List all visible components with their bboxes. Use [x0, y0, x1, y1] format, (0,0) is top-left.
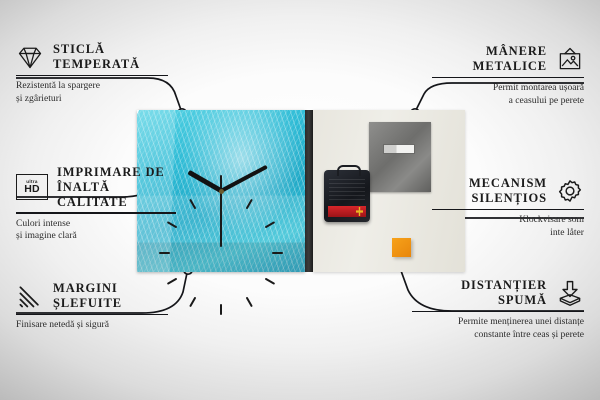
- picture-frame-icon: [556, 45, 584, 73]
- divider: [432, 77, 584, 79]
- feature-title: IMPRIMARE DE ÎNALTĂ CALITATE: [57, 165, 176, 209]
- clock-second-hand: [220, 191, 222, 247]
- feature-subtitle: Permit montarea ușoară a ceasului pe per…: [432, 82, 584, 107]
- feature-subtitle: Culori intense și imagine clară: [16, 218, 176, 243]
- clock-minute-hand: [220, 165, 268, 193]
- product-photo: [137, 110, 465, 272]
- mechanism-grill: [329, 178, 365, 200]
- feature-high-quality-print: ultra HD IMPRIMARE DE ÎNALTĂ CALITATE Cu…: [16, 165, 176, 243]
- divider: [16, 314, 168, 316]
- divider: [16, 212, 176, 214]
- hanger-slot: [383, 144, 415, 154]
- feature-title: DISTANȚIER SPUMĂ: [461, 278, 547, 308]
- foam-spacer: [392, 238, 411, 257]
- feature-subtitle: Rezistentă la spargere și zgârieturi: [16, 80, 168, 105]
- beveled-edge-icon: [16, 282, 44, 310]
- feature-metal-handles: MÂNERE METALICE Permit montarea ușoară a…: [432, 44, 584, 107]
- clock-mechanism: [324, 170, 370, 222]
- feature-polished-edges: MARGINI ȘLEFUITE Finisare netedă și sigu…: [16, 281, 168, 332]
- ultra-hd-icon: ultra HD: [16, 174, 48, 200]
- divider: [412, 311, 584, 313]
- ultra-hd-large-text: HD: [24, 184, 40, 195]
- panel-side-edge: [305, 110, 313, 272]
- diamond-icon: [16, 43, 44, 71]
- clock-pivot: [219, 189, 224, 194]
- divider: [16, 75, 168, 77]
- feature-subtitle: Permite menținerea unei distanțe constan…: [412, 316, 584, 341]
- feature-silent-mechanism: MECANISM SILENȚIOS Klockvisare som inte …: [432, 176, 584, 239]
- feature-subtitle: Finisare netedă și sigură: [16, 319, 168, 331]
- arrow-down-block-icon: [556, 279, 584, 307]
- divider: [432, 209, 584, 211]
- metal-hanger-plate: [369, 122, 431, 192]
- feature-foam-spacer: DISTANȚIER SPUMĂ Permite menținerea unei…: [412, 278, 584, 341]
- feature-title: STICLĂ TEMPERATĂ: [53, 42, 140, 72]
- feature-subtitle: Klockvisare som inte låter: [432, 214, 584, 239]
- infographic-canvas: STICLĂ TEMPERATĂ Rezistentă la spargere …: [0, 0, 600, 400]
- gear-icon: [556, 177, 584, 205]
- battery: [328, 206, 366, 217]
- feature-title: MÂNERE METALICE: [473, 44, 547, 74]
- feature-title: MARGINI ȘLEFUITE: [53, 281, 122, 311]
- feature-title: MECANISM SILENȚIOS: [469, 176, 547, 206]
- mechanism-hook: [337, 165, 361, 176]
- clock-hour-hand: [187, 170, 222, 193]
- feature-tempered-glass: STICLĂ TEMPERATĂ Rezistentă la spargere …: [16, 42, 168, 105]
